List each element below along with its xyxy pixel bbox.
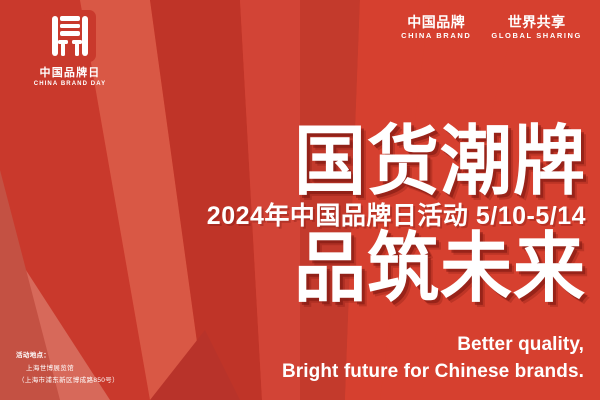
- lockup-global-sharing: 世界共享 GLOBAL SHARING: [491, 14, 582, 40]
- headline-line-2: 品筑未来: [166, 233, 586, 306]
- headline-block: 国货潮牌 2024年中国品牌日活动 5/10-5/14 品筑未来: [166, 128, 586, 304]
- china-brand-day-logo: 中国品牌日 CHINA BRAND DAY: [22, 10, 118, 88]
- top-right-lockup: 中国品牌 CHINA BRAND 世界共享 GLOBAL SHARING: [401, 14, 582, 40]
- lockup-global-sharing-cn: 世界共享: [491, 14, 582, 30]
- china-brand-day-banner: 中国品牌日 CHINA BRAND DAY 中国品牌 CHINA BRAND 世…: [0, 0, 600, 400]
- lockup-china-brand-cn: 中国品牌: [401, 14, 471, 30]
- logo-name-en: CHINA BRAND DAY: [22, 81, 118, 88]
- venue-name: 上海世博展览馆: [16, 363, 119, 376]
- tagline-line-1: Better quality,: [282, 332, 584, 359]
- headline-line-1: 国货潮牌: [166, 126, 586, 199]
- venue-address: （上海市浦东新区博成路850号）: [16, 375, 119, 388]
- tagline-line-2: Bright future for Chinese brands.: [282, 359, 584, 386]
- lockup-china-brand: 中国品牌 CHINA BRAND: [401, 14, 471, 40]
- lockup-china-brand-en: CHINA BRAND: [401, 32, 471, 40]
- lockup-global-sharing-en: GLOBAL SHARING: [491, 32, 582, 40]
- venue-label: 活动地点：: [16, 350, 119, 363]
- china-brand-day-seal-icon: [44, 10, 96, 62]
- venue-info: 活动地点： 上海世博展览馆 （上海市浦东新区博成路850号）: [16, 350, 119, 388]
- logo-name-cn: 中国品牌日: [22, 67, 118, 79]
- english-tagline: Better quality, Bright future for Chines…: [282, 332, 584, 386]
